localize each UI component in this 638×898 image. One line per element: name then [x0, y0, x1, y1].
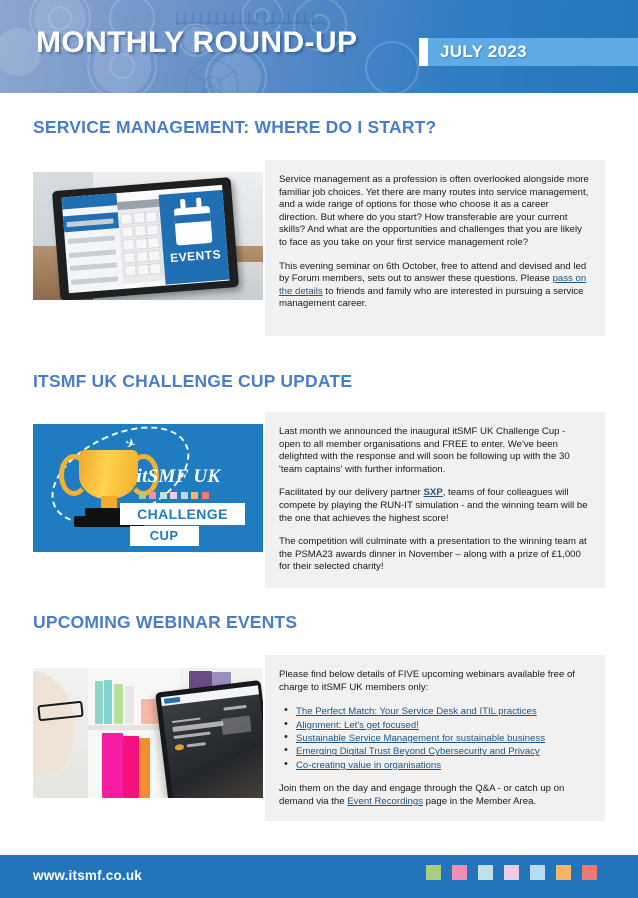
footer-swatch-3	[478, 865, 493, 880]
section-heading-challenge-cup: ITSMF UK CHALLENGE CUP UPDATE	[33, 371, 352, 392]
tablet-events-label: EVENTS	[163, 247, 228, 266]
footer-colour-squares	[426, 865, 597, 880]
webinar-link-1[interactable]: The Perfect Match: Your Service Desk and…	[296, 706, 537, 717]
issue-date-label: JULY 2023	[440, 42, 527, 62]
itsmf-challenge-cup-logo: ✈ itSMF UK CHALLENGE CUP	[33, 424, 263, 552]
webinar-link-2[interactable]: Alignment: Let's get focused!	[296, 720, 419, 731]
webinar-laptop-photo	[33, 668, 263, 798]
itsmf-uk-wordmark: itSMF UK	[137, 466, 221, 488]
calendar-icon	[174, 205, 213, 245]
section-heading-upcoming-webinars: UPCOMING WEBINAR EVENTS	[33, 612, 297, 633]
challenge-cup-paragraph-1: Last month we announced the inaugural it…	[279, 426, 589, 476]
tablet-device: EVENTS	[52, 177, 239, 300]
date-band-marker	[419, 38, 428, 66]
webinar-link-3[interactable]: Sustainable Service Management for susta…	[296, 733, 545, 744]
challenge-ribbon-label: CHALLENGE	[120, 503, 244, 525]
footer-swatch-4	[504, 865, 519, 880]
event-recordings-link[interactable]: Event Recordings	[347, 796, 423, 807]
panel-upcoming-webinars: Please find below details of FIVE upcomi…	[265, 655, 605, 821]
sxp-partner-link[interactable]: SXP	[424, 487, 443, 498]
panel-service-management: Service management as a profession is of…	[265, 160, 605, 336]
page-header: MONTHLY ROUND-UP JULY 2023	[0, 0, 638, 93]
list-item[interactable]: Alignment: Let's get focused!	[296, 719, 589, 732]
paragraph-2-text-before: This evening seminar on 6th October, fre…	[279, 261, 586, 285]
challenge-cup-paragraph-2: Facilitated by our delivery partner SXP,…	[279, 487, 589, 525]
cup-ribbon: CUP	[130, 526, 199, 545]
footer-swatch-1	[426, 865, 441, 880]
paragraph-2-text-after: to friends and family who are interested…	[279, 286, 584, 310]
tablet-events-calendar-photo: EVENTS	[33, 172, 263, 300]
footer-swatch-5	[530, 865, 545, 880]
list-item[interactable]: The Perfect Match: Your Service Desk and…	[296, 705, 589, 718]
footer-website-url[interactable]: www.itsmf.co.uk	[33, 868, 142, 883]
page-title: MONTHLY ROUND-UP	[36, 26, 357, 60]
list-item[interactable]: Sustainable Service Management for susta…	[296, 732, 589, 745]
webinar-link-4[interactable]: Emerging Digital Trust Beyond Cybersecur…	[296, 746, 540, 757]
webinar-link-5[interactable]: Co-creating value in organisations	[296, 760, 441, 771]
footer-swatch-7	[582, 865, 597, 880]
challenge-ribbon: CHALLENGE	[120, 503, 244, 525]
challenge-cup-paragraph-3: The competition will culminate with a pr…	[279, 536, 589, 574]
list-item[interactable]: Emerging Digital Trust Beyond Cybersecur…	[296, 745, 589, 758]
outro-text-after: page in the Member Area.	[423, 796, 536, 807]
list-item[interactable]: Co-creating value in organisations	[296, 759, 589, 772]
webinars-outro: Join them on the day and engage through …	[279, 783, 589, 808]
cup-ribbon-label: CUP	[130, 526, 199, 545]
challenge-paragraph-2-before: Facilitated by our delivery partner	[279, 487, 424, 498]
footer-swatch-6	[556, 865, 571, 880]
panel-challenge-cup: Last month we announced the inaugural it…	[265, 412, 605, 588]
section-heading-service-management: SERVICE MANAGEMENT: WHERE DO I START?	[33, 117, 436, 138]
service-management-paragraph-1: Service management as a profession is of…	[279, 174, 589, 250]
service-management-paragraph-2: This evening seminar on 6th October, fre…	[279, 261, 589, 311]
laptop-device	[155, 680, 263, 798]
footer-swatch-2	[452, 865, 467, 880]
webinar-list: The Perfect Match: Your Service Desk and…	[279, 705, 589, 772]
brand-colour-squares	[139, 492, 209, 499]
webinars-intro: Please find below details of FIVE upcomi…	[279, 669, 589, 694]
